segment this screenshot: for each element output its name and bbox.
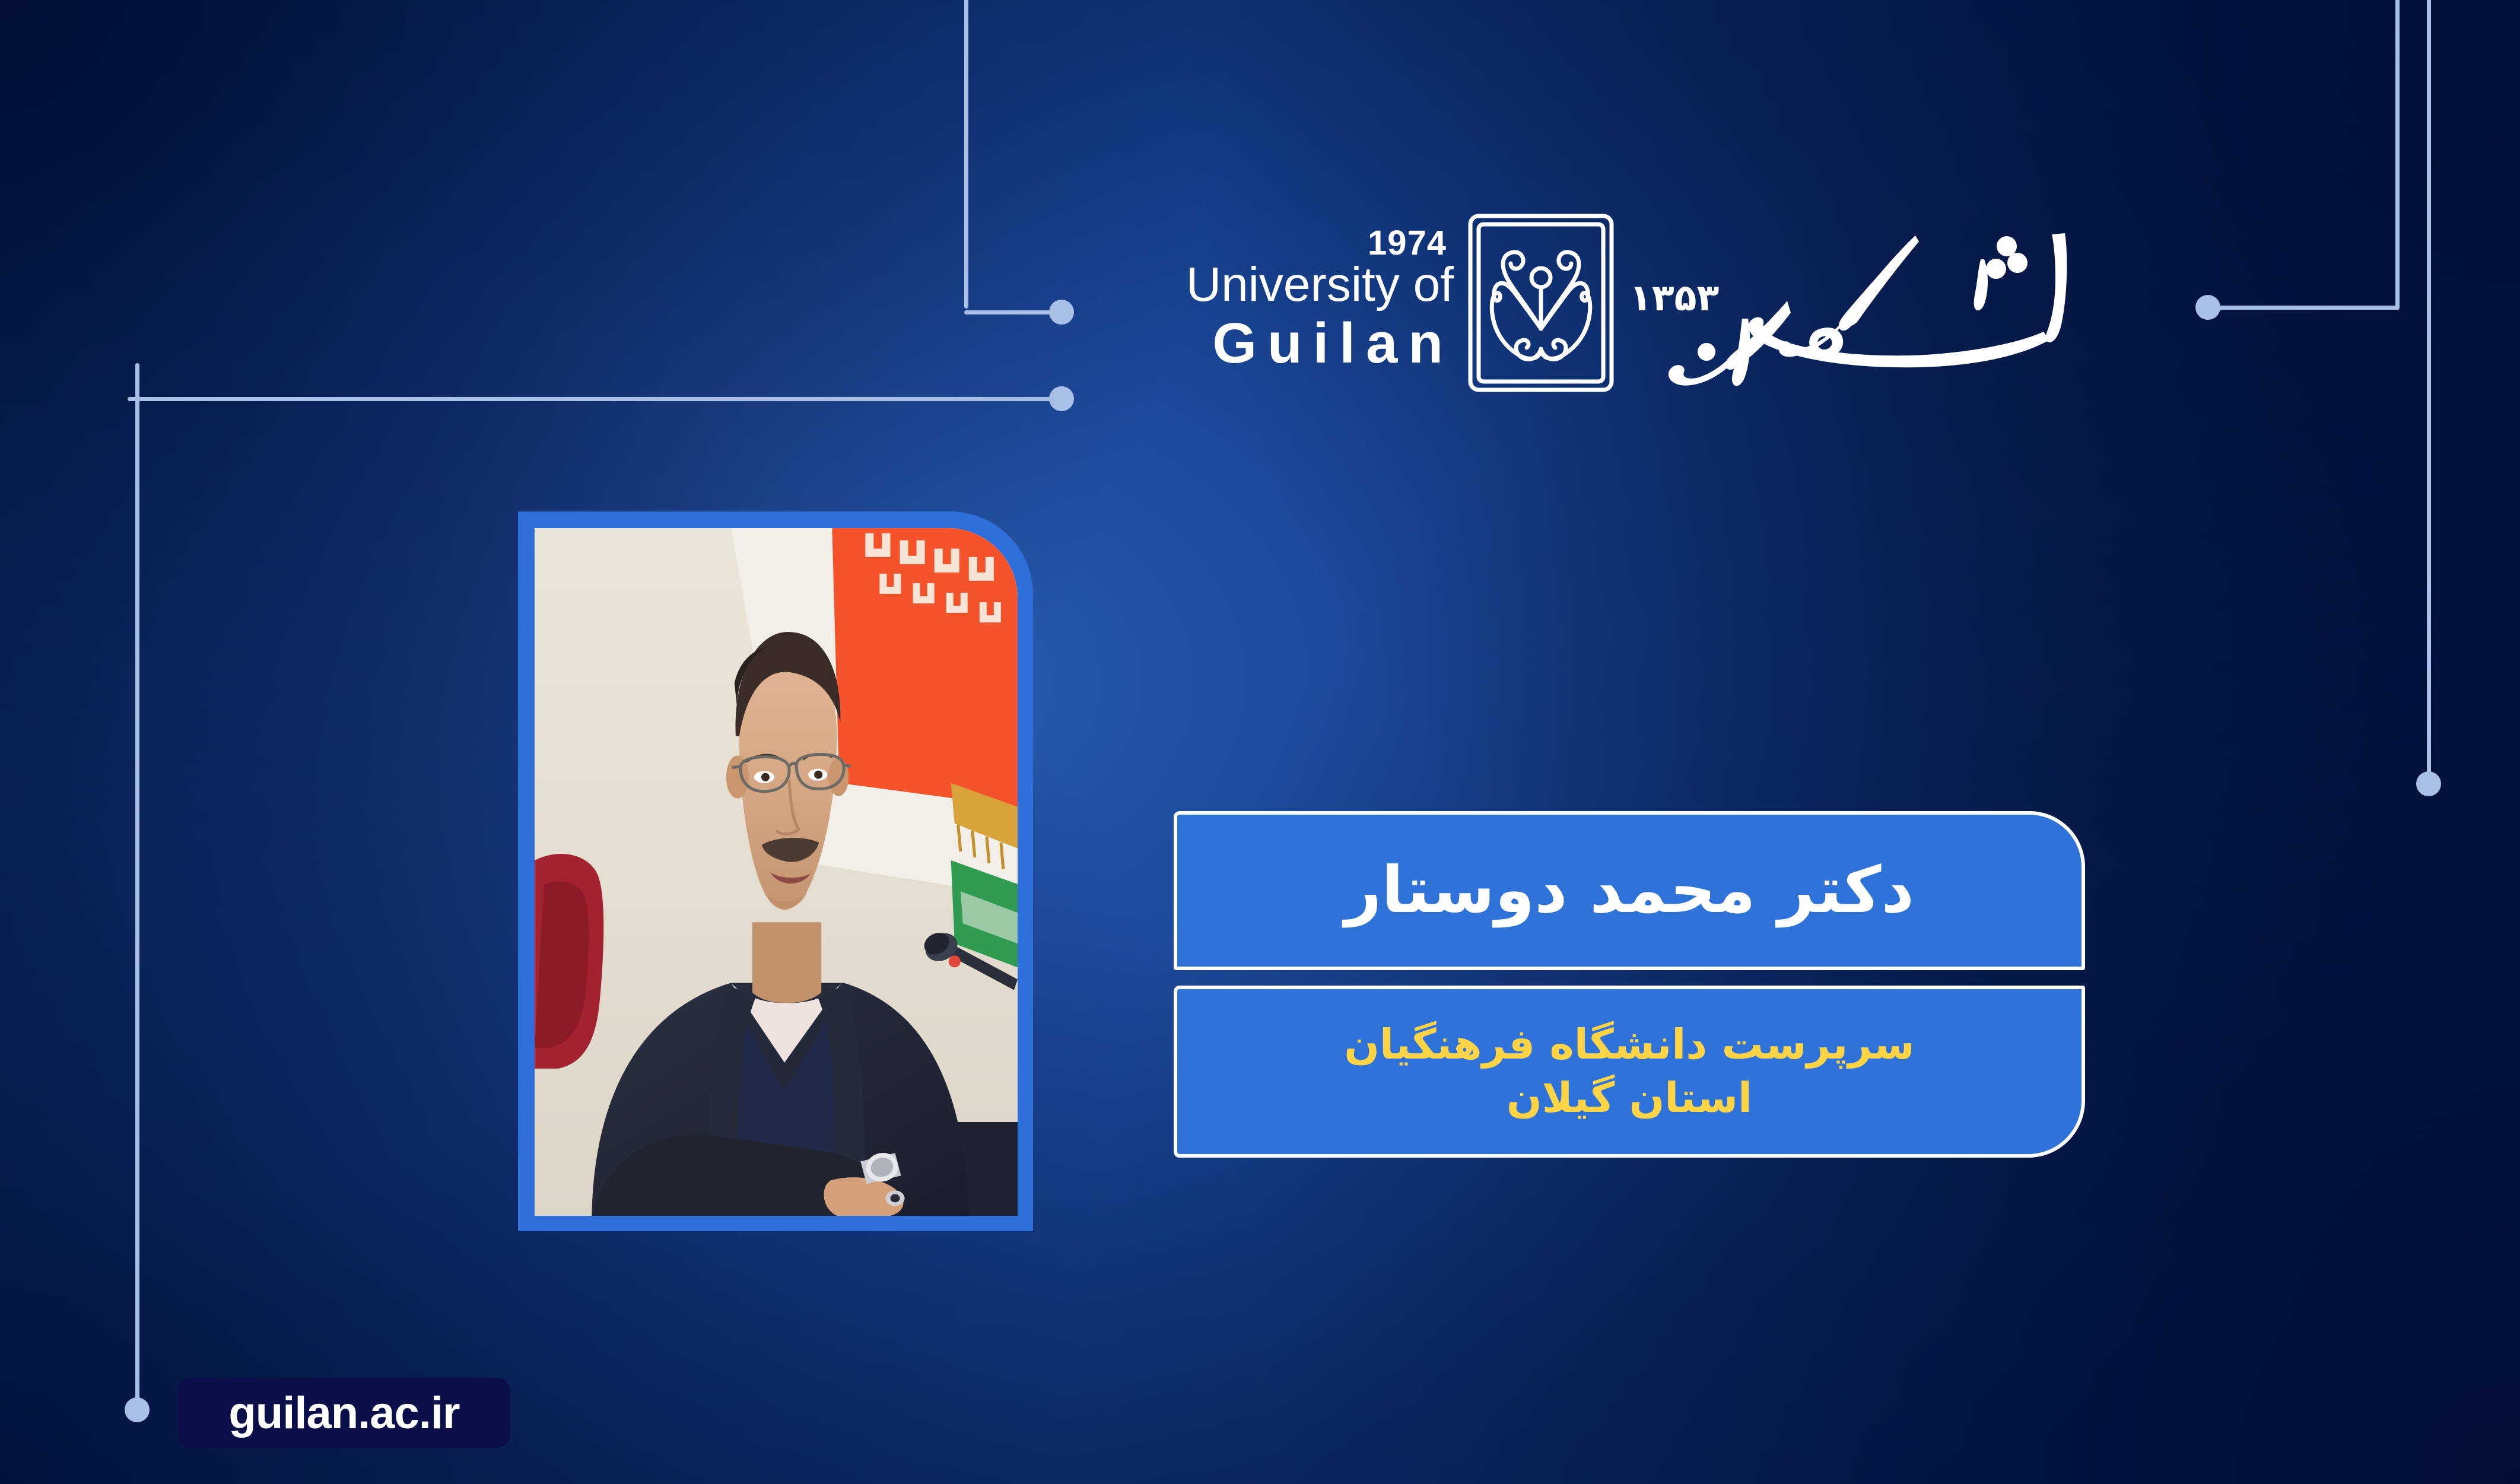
website-url-badge[interactable]: guilan.ac.ir [178, 1378, 510, 1448]
logo-year-gregorian: 1974 [1368, 226, 1447, 260]
deco-dot-upper-left [1049, 386, 1074, 411]
deco-dot-top-right [2195, 295, 2220, 320]
person-name-text: دکتر محمد دوستار [1345, 857, 1914, 924]
person-role-banner: سرپرست دانشگاه فرهنگیان استان گیلان [1174, 986, 2085, 1158]
logo-persian-calligraphy [1664, 202, 2079, 398]
deco-line-vertical-top-left [964, 0, 968, 309]
logo-persian-text: ۱۳۵۳ [1628, 205, 2079, 401]
deco-dot-top-left [1049, 300, 1074, 325]
logo-university-of-label: University of [1145, 260, 1454, 309]
portrait-photo [535, 528, 1018, 1216]
deco-line-horizontal-top-right [2212, 306, 2400, 310]
portrait-photo-frame [518, 511, 1033, 1231]
deco-line-horizontal-upper-left [128, 397, 1062, 401]
person-role-line-1: سرپرست دانشگاه فرهنگیان [1344, 1020, 1914, 1069]
logo-guilan-label: Guilan [1145, 315, 1454, 372]
deco-dot-bottom-left [125, 1397, 150, 1422]
person-role-text: سرپرست دانشگاه فرهنگیان استان گیلان [1344, 1018, 1914, 1124]
deco-line-vertical-left [135, 363, 139, 1410]
university-logo: 1974 University of Guilan ۱۳۵ [1145, 196, 2095, 409]
guilan-university-emblem-icon [1467, 212, 1615, 393]
poster-canvas: 1974 University of Guilan ۱۳۵ [0, 0, 2520, 1484]
website-url-text: guilan.ac.ir [228, 1387, 459, 1439]
deco-line-vertical-top-right [2395, 0, 2400, 310]
deco-dot-right [2416, 771, 2441, 796]
person-name-banner: دکتر محمد دوستار [1174, 811, 2085, 970]
person-role-line-2: استان گیلان [1507, 1073, 1752, 1122]
logo-english-text: 1974 University of Guilan [1145, 233, 1454, 372]
deco-line-vertical-right [2427, 0, 2431, 783]
